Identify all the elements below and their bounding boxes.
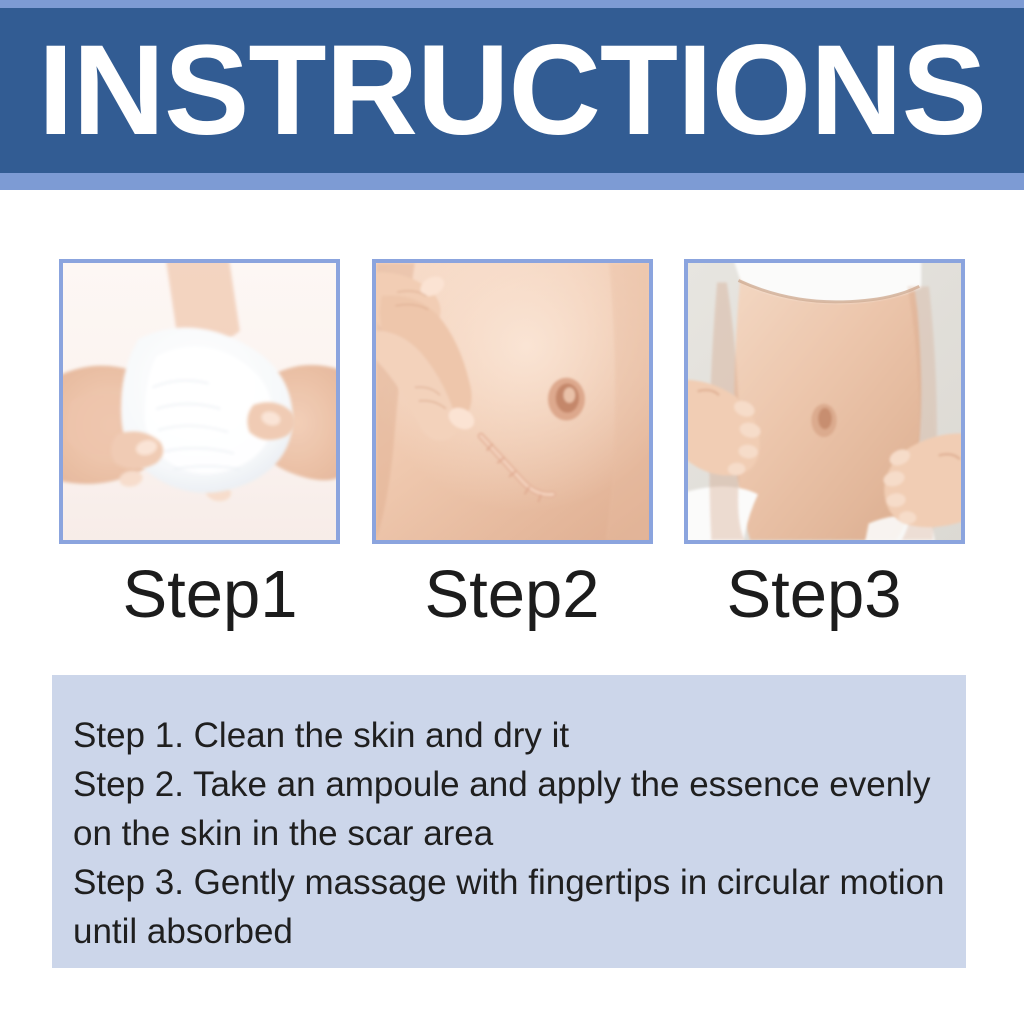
header-banner: INSTRUCTIONS bbox=[0, 0, 1024, 190]
step-thumbnail-3[interactable] bbox=[684, 259, 965, 544]
instructions-body-text: Step 1. Clean the skin and dry it Step 2… bbox=[73, 711, 953, 956]
page-title: INSTRUCTIONS bbox=[0, 8, 1024, 173]
step-thumbnails-row bbox=[59, 259, 965, 544]
step-caption-1: Step1 bbox=[59, 552, 361, 637]
instructions-panel: Step 1. Clean the skin and dry it Step 2… bbox=[52, 675, 966, 968]
step-captions-row: Step1 Step2 Step3 bbox=[59, 552, 965, 637]
step-caption-2: Step2 bbox=[361, 552, 663, 637]
abdomen-with-scar-icon bbox=[376, 263, 649, 540]
step-thumbnail-1[interactable] bbox=[59, 259, 340, 544]
smooth-abdomen-hands-on-hips-icon bbox=[688, 263, 961, 540]
step-thumbnail-2[interactable] bbox=[372, 259, 653, 544]
hands-holding-white-towel-icon bbox=[63, 263, 336, 540]
step-caption-3: Step3 bbox=[663, 552, 965, 637]
